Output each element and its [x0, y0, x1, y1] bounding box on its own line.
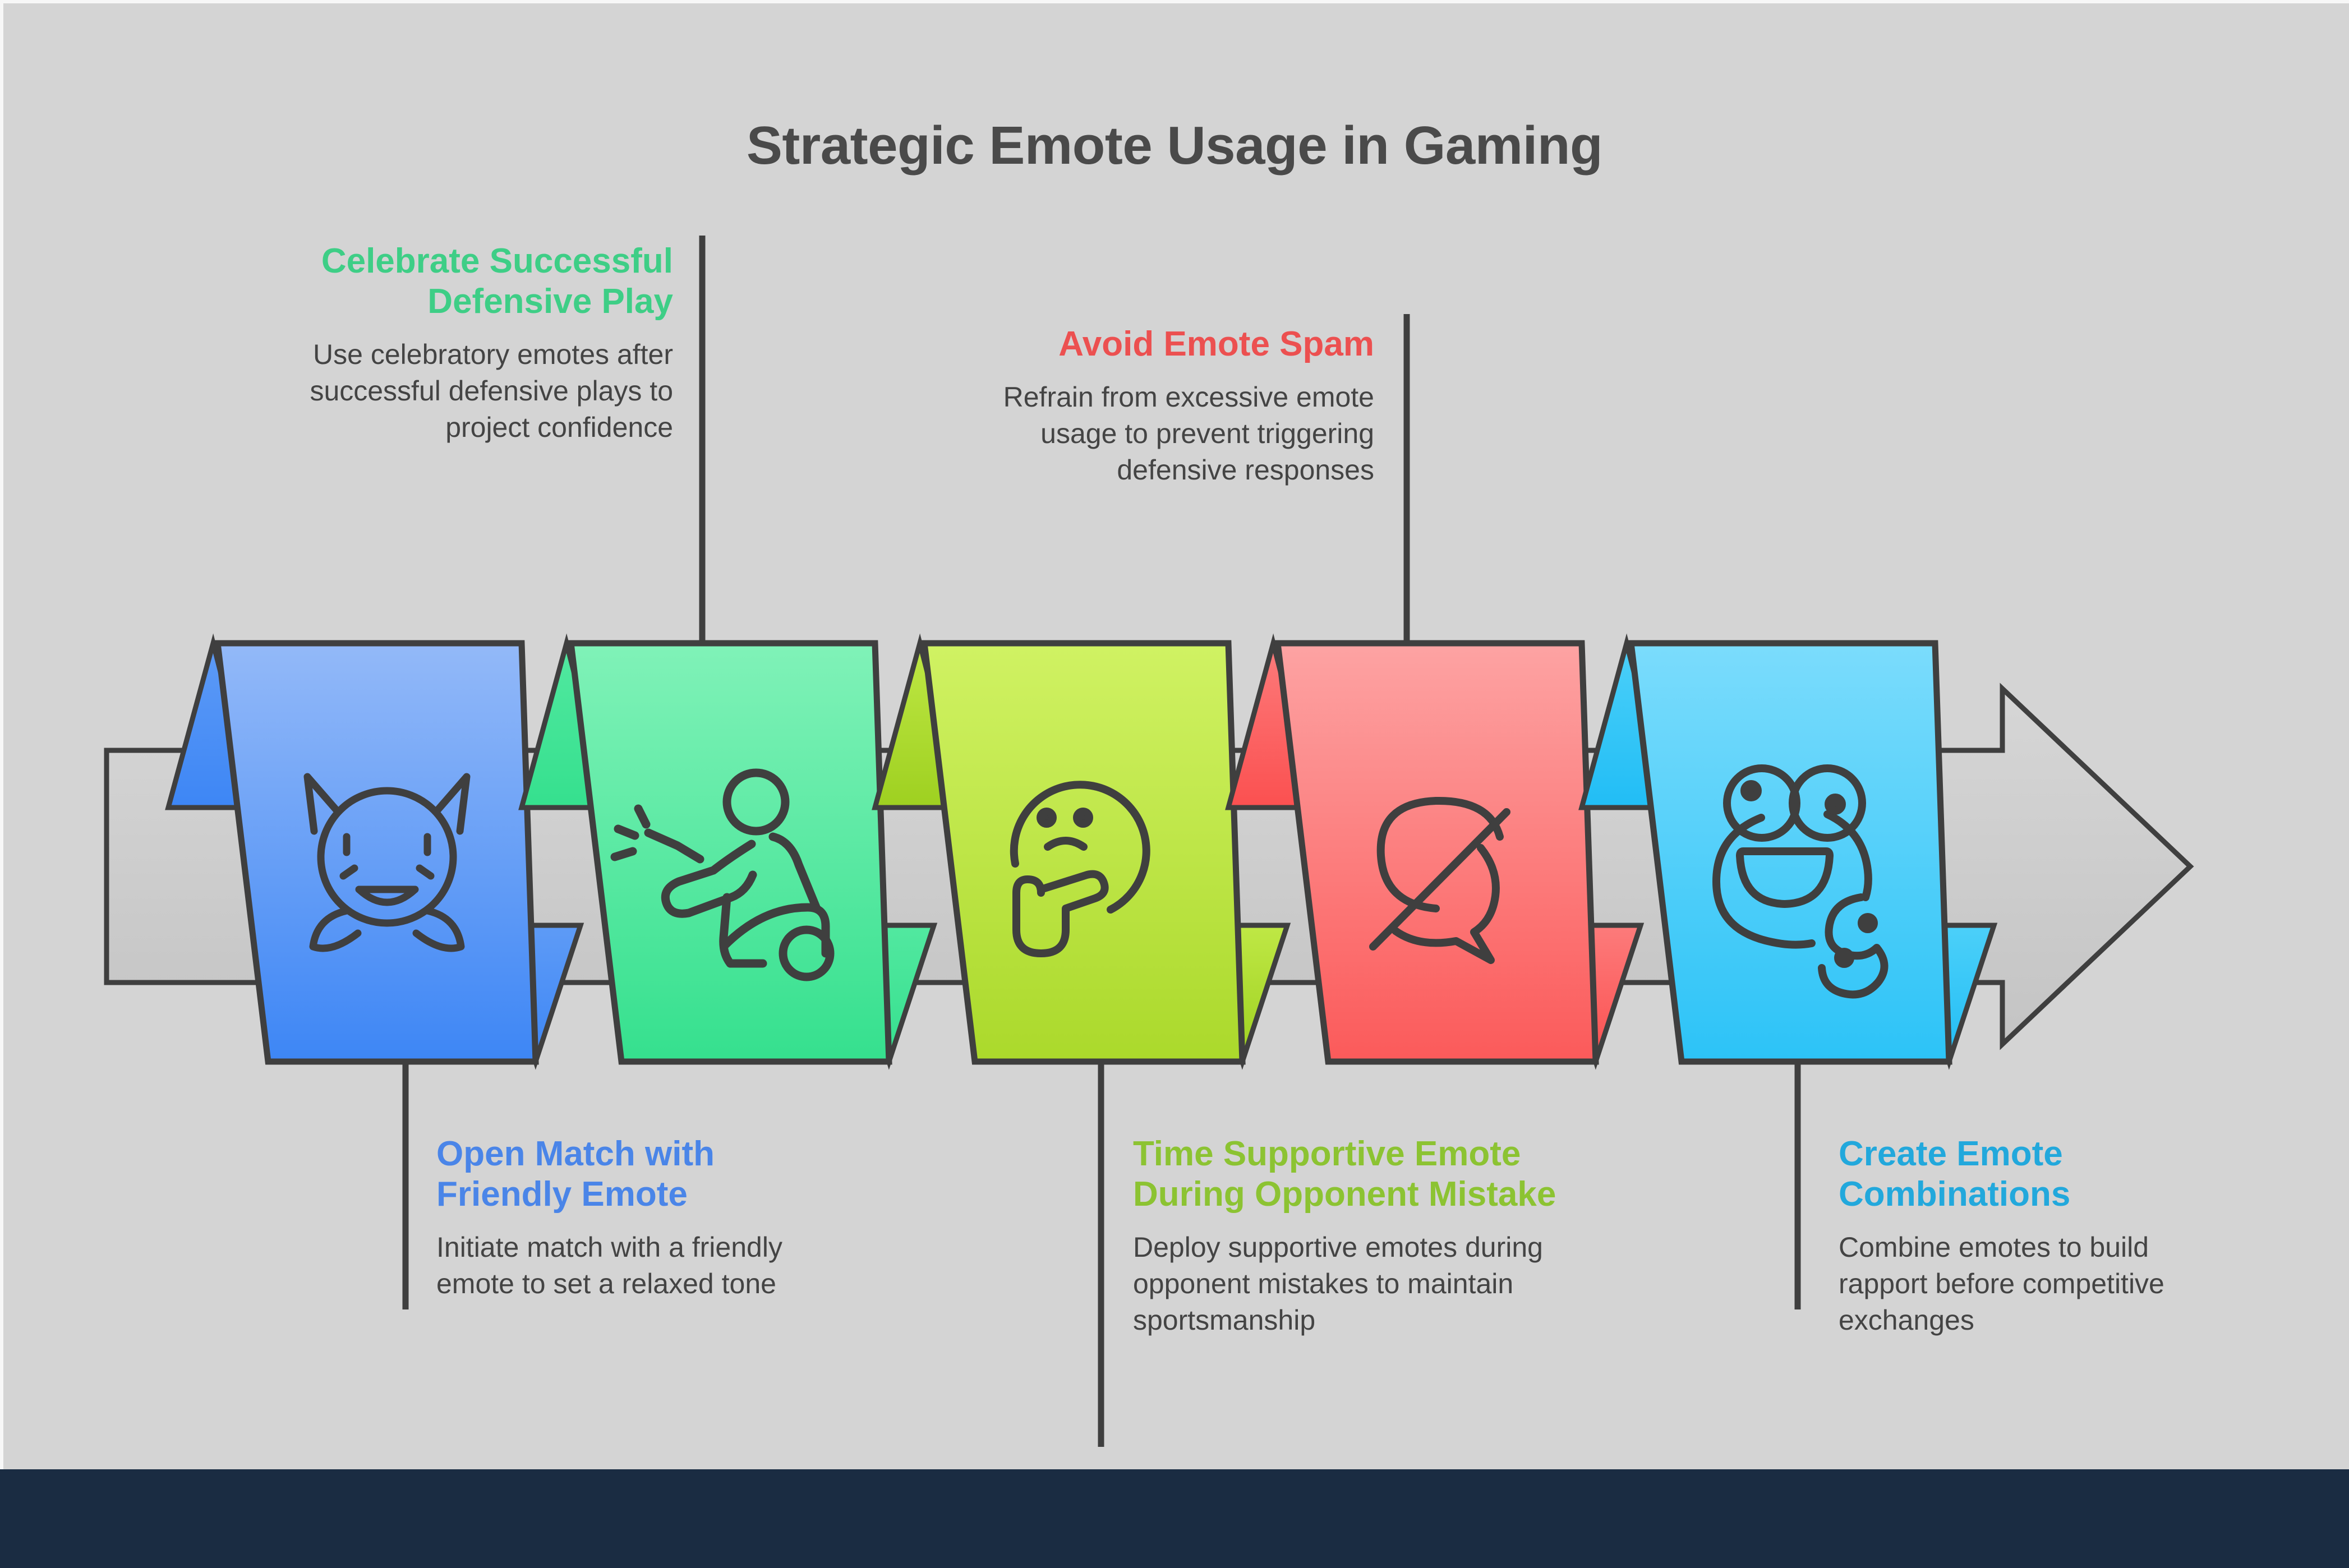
callout-avoid-emote-spam: Avoid Emote Spam Refrain from excessive …	[959, 324, 1374, 488]
callout-body: Refrain from excessive emote usage to pr…	[959, 379, 1374, 488]
callout-body: Deploy supportive emotes during opponent…	[1133, 1229, 1559, 1339]
callout-heading: Avoid Emote Spam	[959, 324, 1374, 365]
callout-body: Combine emotes to build rapport before c…	[1839, 1229, 2242, 1339]
callout-celebrate-successful-defensive-play: Celebrate Successful Defensive Play Use …	[241, 241, 673, 446]
callout-body: Initiate match with a friendly emote to …	[436, 1229, 829, 1302]
callout-open-match-with-friendly-emote: Open Match with Friendly Emote Initiate …	[436, 1134, 829, 1302]
footer-bar	[0, 1469, 2349, 1568]
page-title: Strategic Emote Usage in Gaming	[0, 115, 2349, 177]
callout-create-emote-combinations: Create Emote Combinations Combine emotes…	[1839, 1134, 2242, 1339]
callout-time-supportive-emote-during-opponent-mistake: Time Supportive Emote During Opponent Mi…	[1133, 1134, 1559, 1339]
callout-heading: Celebrate Successful Defensive Play	[241, 241, 673, 322]
step-banner-4-face	[1278, 643, 1596, 1062]
step-banner-1-face	[218, 643, 536, 1062]
step-banner-3-face	[924, 643, 1242, 1062]
callout-heading: Time Supportive Emote During Opponent Mi…	[1133, 1134, 1559, 1215]
callout-heading: Open Match with Friendly Emote	[436, 1134, 829, 1215]
callout-heading: Create Emote Combinations	[1839, 1134, 2242, 1215]
callout-body: Use celebratory emotes after successful …	[241, 336, 673, 446]
